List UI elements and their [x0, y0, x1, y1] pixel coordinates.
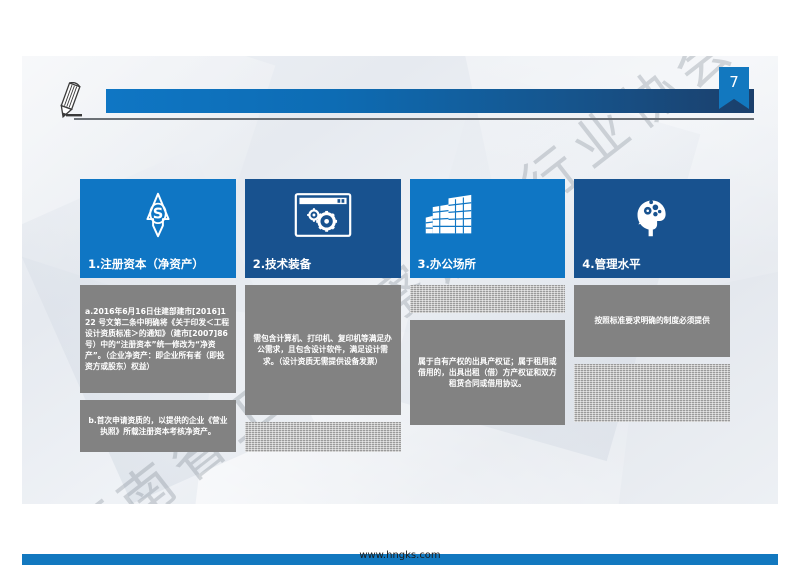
- column-1: S 1.注册资本（净资产） a.2016年6月16日住建部建市[2016]122…: [80, 179, 236, 469]
- column-2: 2.技术装备 需包含计算机、打印机、复印机等满足办公需求，且包含设计软件，满足设…: [245, 179, 401, 469]
- column-3: 3.办公场所 属于自有产权的出具产权证；属于租用或借用的，出具出租（借）方产权证…: [410, 179, 566, 469]
- footer-url[interactable]: www.hngks.com: [0, 550, 800, 561]
- content-columns: S 1.注册资本（净资产） a.2016年6月16日住建部建市[2016]122…: [80, 179, 730, 469]
- card-header-1[interactable]: S 1.注册资本（净资产）: [80, 179, 236, 278]
- card-title-2: 2.技术装备: [253, 258, 393, 271]
- svg-text:S: S: [153, 206, 164, 223]
- info-block-3b: 属于自有产权的出具产权证；属于租用或借用的，出具出租（借）方产权证和双方租赁合同…: [410, 320, 566, 425]
- card-title-4: 4.管理水平: [582, 258, 722, 271]
- slide-canvas: 河南省工程勘察设计行业协会 7: [22, 56, 778, 504]
- pencil-icon: [52, 82, 86, 122]
- card-title-3: 3.办公场所: [418, 258, 558, 271]
- info-block-4a: 按照标准要求明确的制度必须提供: [574, 285, 730, 357]
- card-header-3[interactable]: 3.办公场所: [410, 179, 566, 278]
- card-header-2[interactable]: 2.技术装备: [245, 179, 401, 278]
- info-block-2a: 需包含计算机、打印机、复印机等满足办公需求，且包含设计软件，满足设计需求。（设计…: [245, 285, 401, 415]
- card-header-4[interactable]: 4.管理水平: [574, 179, 730, 278]
- column-4: 4.管理水平 按照标准要求明确的制度必须提供: [574, 179, 730, 469]
- placeholder-block-4b: [574, 364, 730, 422]
- info-block-1a: a.2016年6月16日住建部建市[2016]122 号文第二条中明确将《关于印…: [80, 285, 236, 393]
- placeholder-block-3a: [410, 285, 566, 313]
- slide-page: 河南省工程勘察设计行业协会 7: [0, 0, 800, 565]
- placeholder-block-2b: [245, 422, 401, 452]
- browser-gears-icon: [253, 187, 393, 243]
- office-building-icon: [418, 187, 558, 243]
- card-title-1: 1.注册资本（净资产）: [88, 258, 228, 271]
- slide-title-bar: [106, 89, 754, 113]
- dollar-arrow-down-icon: S: [88, 187, 228, 243]
- title-underline: [74, 118, 754, 120]
- head-gears-icon: [582, 187, 722, 243]
- info-block-1b: b.首次申请资质的，以提供的企业《营业执照》所载注册资本考核净资产。: [80, 400, 236, 452]
